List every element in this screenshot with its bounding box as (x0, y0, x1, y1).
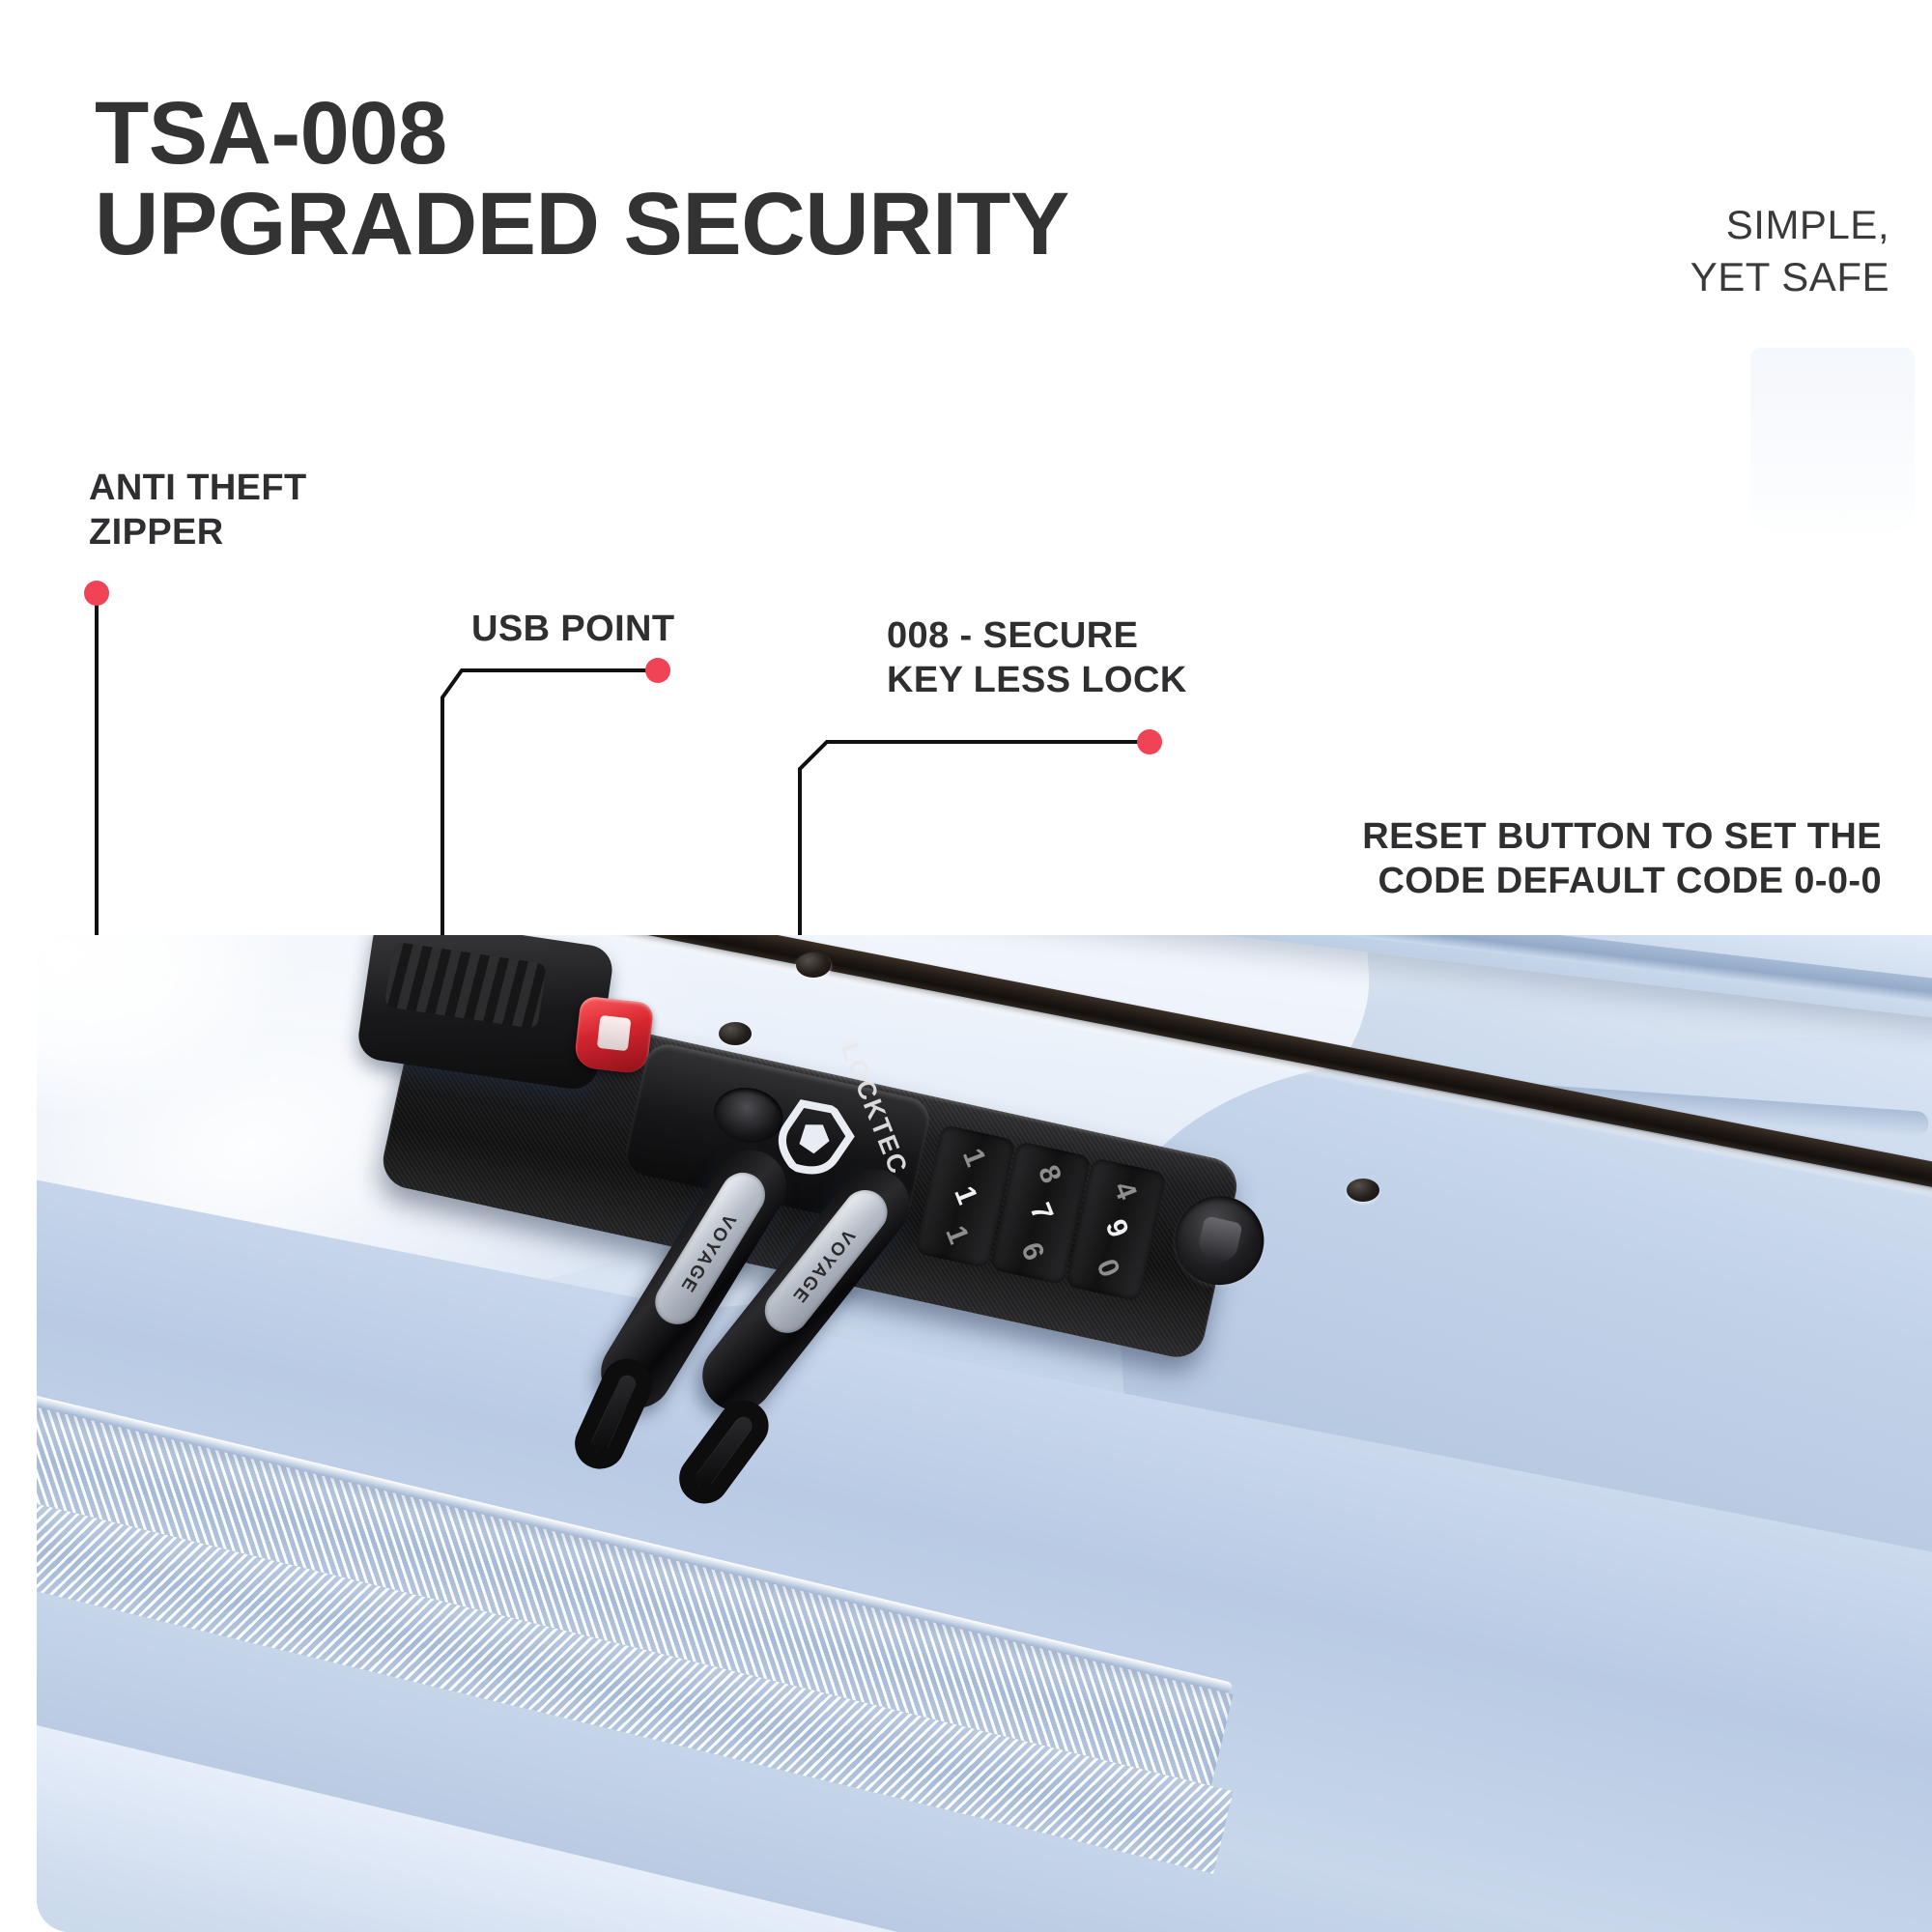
callout-usb-line-1: USB POINT (471, 607, 790, 651)
subtitle-line-1: SIMPLE, (1484, 199, 1889, 251)
leader-dot-usb (645, 658, 670, 683)
zipper-anchor-block (355, 935, 615, 1093)
page-title: TSA-008 UPGRADED SECURITY (95, 89, 1466, 270)
shell-corner-highlight (37, 935, 288, 1109)
shell-rivet (1347, 1179, 1379, 1202)
zipper-pull-loop-right (669, 1390, 779, 1513)
callout-lock-line-2: KEY LESS LOCK (887, 658, 1293, 702)
callout-label-keyless-lock: 008 - SECURE KEY LESS LOCK (887, 613, 1293, 703)
callout-reset-line-2: CODE DEFAULT CODE 0-0-0 (1225, 859, 1882, 903)
page-subtitle: SIMPLE, YET SAFE (1484, 199, 1889, 303)
callout-label-reset-button: RESET BUTTON TO SET THE CODE DEFAULT COD… (1225, 814, 1882, 904)
callout-zipper-line-2: ZIPPER (89, 510, 495, 554)
zipper-pull-right-brand: VOYAGE (814, 1225, 859, 1273)
callout-lock-line-1: 008 - SECURE (887, 613, 1293, 658)
zipper-anchor-ribs (384, 942, 547, 1030)
tsa-red-badge-icon (574, 996, 655, 1075)
leader-dot-lock (1137, 729, 1162, 754)
callout-reset-line-1: RESET BUTTON TO SET THE (1225, 814, 1882, 859)
title-line-1: TSA-008 (95, 89, 1466, 180)
title-line-2: UPGRADED SECURITY (95, 180, 1466, 270)
shell-rivet (796, 952, 831, 978)
background-watermark (1750, 348, 1915, 531)
subtitle-line-2: YET SAFE (1484, 251, 1889, 303)
callout-label-usb-point: USB POINT (471, 607, 790, 651)
callout-zipper-line-1: ANTI THEFT (89, 466, 495, 510)
infographic-canvas: TSA-008 UPGRADED SECURITY SIMPLE, YET SA… (0, 0, 1932, 1932)
callout-label-anti-theft-zipper: ANTI THEFT ZIPPER (89, 466, 495, 555)
leader-dot-zipper (84, 581, 109, 606)
product-photo-suitcase: LOCKTEC 1 1 1 8 7 6 4 9 0 VOYA (37, 935, 1932, 1932)
zipper-pull-left-brand: VOYAGE (698, 1210, 740, 1260)
